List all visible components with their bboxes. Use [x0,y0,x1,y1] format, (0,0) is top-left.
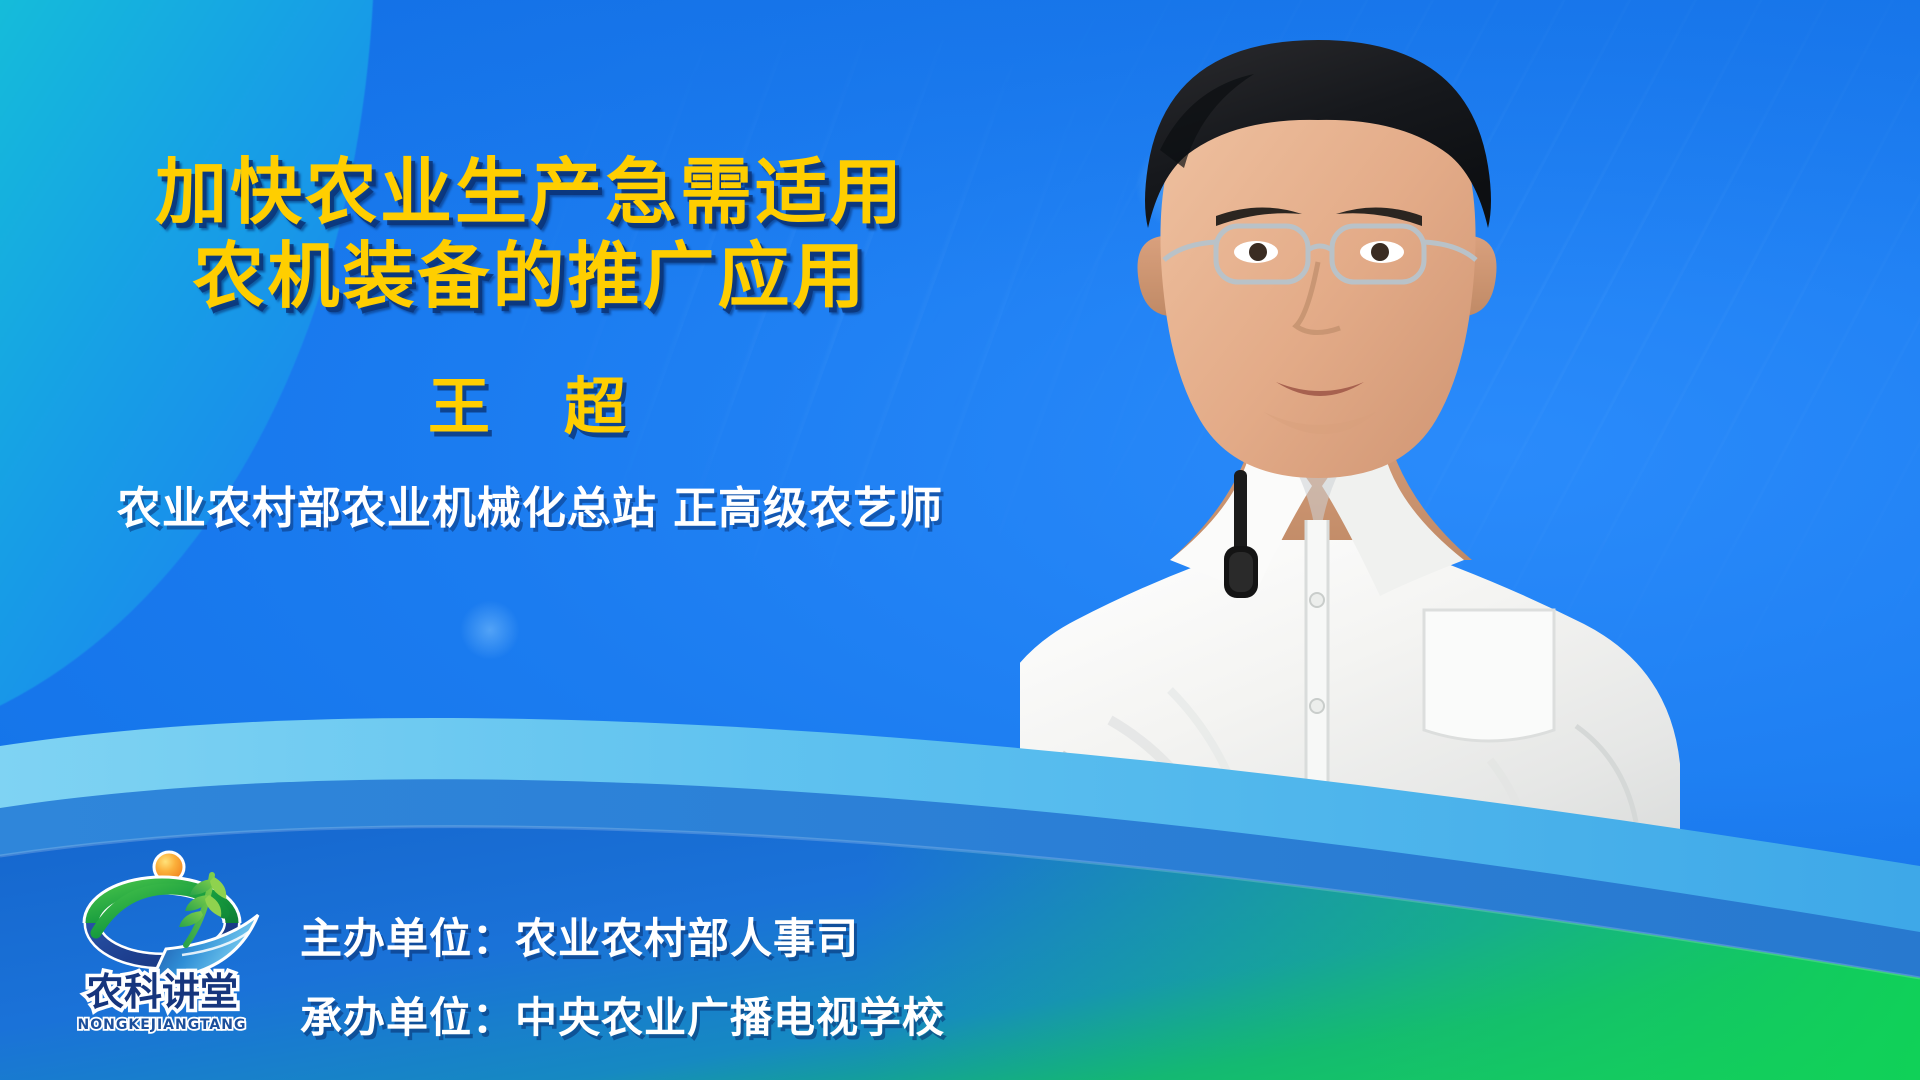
credit-line-host: 主办单位：农业农村部人事司 [300,905,945,966]
title-block: 加快农业生产急需适用 农机装备的推广应用 王 超 农业农村部农业机械化总站 正高… [0,150,1060,536]
logo-program-name: 农科讲堂 [86,970,238,1014]
speaker-affiliation: 农业农村部农业机械化总站 正高级农艺师 [0,472,1060,536]
title-line-1: 加快农业生产急需适用 [0,150,1060,234]
title-line-2: 农机装备的推广应用 [0,234,1060,318]
credit-line-organizer: 承办单位：中央农业广播电视学校 [300,984,945,1045]
bottom-wave-decoration [0,660,1920,1080]
speaker-name: 王 超 [0,356,1060,446]
title-slide: 加快农业生产急需适用 农机装备的推广应用 王 超 农业农村部农业机械化总站 正高… [0,0,1920,1080]
nongke-jiangtang-logo: 农科讲堂 NONGKEJIANGTANG [62,845,262,1045]
logo-program-pinyin: NONGKEJIANGTANG [78,1017,247,1033]
credits-block: 主办单位：农业农村部人事司 承办单位：中央农业广播电视学校 [300,905,945,1045]
